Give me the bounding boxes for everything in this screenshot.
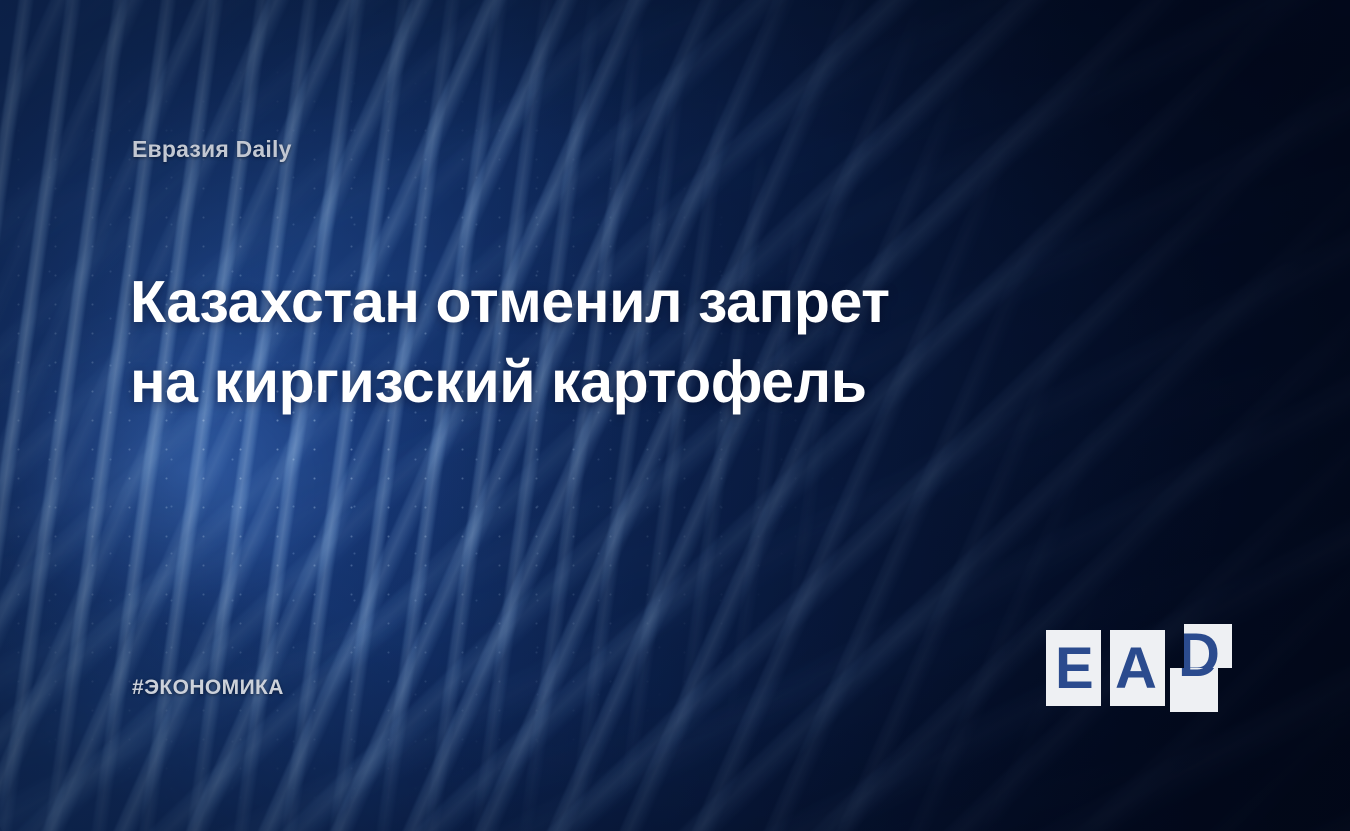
headline-line-1: Казахстан отменил запрет (130, 262, 950, 342)
logo-tile-e: E (1046, 630, 1101, 706)
article-social-card: Евразия Daily Казахстан отменил запрет н… (0, 0, 1350, 831)
logo-letter-e: E (1055, 640, 1094, 698)
page-title: Казахстан отменил запрет на киргизский к… (130, 262, 950, 422)
logo-letter-a: A (1115, 640, 1157, 698)
logo-tile-a: A (1110, 630, 1165, 706)
category-tag[interactable]: #ЭКОНОМИКА (132, 676, 284, 700)
brand-name: Евразия Daily (132, 136, 292, 163)
card-content: Евразия Daily Казахстан отменил запрет н… (0, 0, 1350, 831)
logo-letter-d-lower: D (1178, 668, 1218, 686)
logo-tile-d-upper: D (1184, 624, 1232, 668)
logo-letter-d-upper: D (1184, 626, 1220, 668)
ead-logo: E A D D (1044, 622, 1236, 714)
logo-tile-d-lower: D (1170, 668, 1218, 712)
headline-line-2: на киргизский картофель (130, 342, 950, 422)
